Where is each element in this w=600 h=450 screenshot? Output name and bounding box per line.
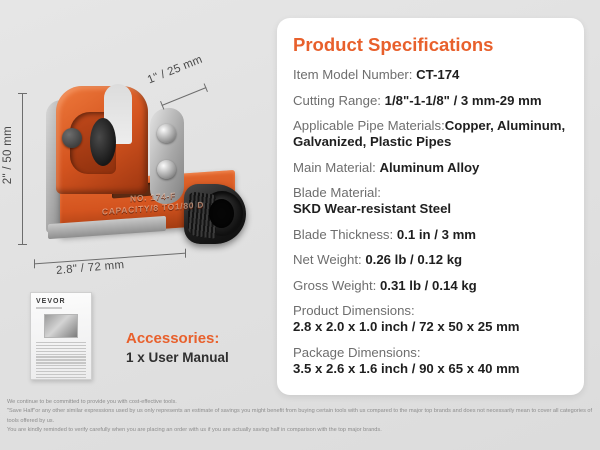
spec-row: Gross Weight: 0.31 lb / 0.14 kg [293,278,570,294]
spec-value: 3.5 x 2.6 x 1.6 inch / 90 x 65 x 40 mm [293,361,570,377]
spec-value: 0.26 lb / 0.12 kg [365,252,462,267]
spec-value: 2.8 x 2.0 x 1.0 inch / 72 x 50 x 25 mm [293,319,570,335]
accessories-block: Accessories: 1 x User Manual [126,330,229,365]
roller-top [157,124,176,143]
pivot-bolt [62,128,82,148]
cutting-wheel [90,118,116,166]
specifications-card: Product Specifications Item Model Number… [277,18,584,395]
specifications-list: Item Model Number: CT-174Cutting Range: … [293,67,570,377]
height-dimension-label: 2" / 50 mm [2,126,18,184]
height-dimension-line [22,93,23,245]
spec-label: Gross Weight: [293,278,380,293]
disclaimer-line-2: "Save Half"or any other similar expressi… [7,407,593,426]
spec-row: Cutting Range: 1/8"-1-1/8" / 3 mm-29 mm [293,93,570,109]
spec-value: 1/8"-1-1/8" / 3 mm-29 mm [385,93,542,108]
spec-row: Main Material: Aluminum Alloy [293,160,570,176]
spec-label: Item Model Number: [293,67,416,82]
spec-label: Applicable Pipe Materials: [293,118,445,133]
spec-label: Cutting Range: [293,93,385,108]
spec-label: Blade Material: [293,185,381,200]
spec-value: CT-174 [416,67,459,82]
product-image-panel: NO. 174-F CAPACITY/8 TO1/80 D 2" / 50 mm… [0,0,280,390]
specifications-title: Product Specifications [293,34,570,56]
disclaimer-text: We continue to be committed to provide y… [7,398,593,436]
spec-row: Blade Thickness: 0.1 in / 3 mm [293,227,570,243]
tube-cutter-illustration: NO. 174-F CAPACITY/8 TO1/80 D [38,80,253,265]
spec-value: Aluminum Alloy [379,160,479,175]
spec-row: Net Weight: 0.26 lb / 0.12 kg [293,252,570,268]
spec-label: Net Weight: [293,252,365,267]
disclaimer-line-3: You are kindly reminded to verify carefu… [7,426,593,435]
spec-row: Item Model Number: CT-174 [293,67,570,83]
manual-subtitle-bar [36,307,62,309]
spec-label: Main Material: [293,160,379,175]
manual-vevor-logo: VEVOR [36,298,86,305]
spec-value: 0.1 in / 3 mm [397,227,476,242]
spec-label: Product Dimensions: [293,303,415,318]
roller-bottom [157,160,176,179]
spec-row: Blade Material:SKD Wear-resistant Steel [293,185,570,217]
accessories-title: Accessories: [126,330,229,347]
spec-label: Blade Thickness: [293,227,397,242]
spec-value: SKD Wear-resistant Steel [293,201,570,217]
spec-value: 0.31 lb / 0.14 kg [380,278,477,293]
spec-row: Applicable Pipe Materials:Copper, Alumin… [293,118,570,150]
spec-row: Package Dimensions:3.5 x 2.6 x 1.6 inch … [293,345,570,377]
user-manual-thumbnail: VEVOR [30,292,92,380]
manual-text-lines [36,342,86,380]
spec-row: Product Dimensions:2.8 x 2.0 x 1.0 inch … [293,303,570,335]
disclaimer-line-1: We continue to be committed to provide y… [7,398,593,407]
accessories-item: 1 x User Manual [126,350,229,365]
manual-product-photo [44,314,78,338]
spec-label: Package Dimensions: [293,345,421,360]
